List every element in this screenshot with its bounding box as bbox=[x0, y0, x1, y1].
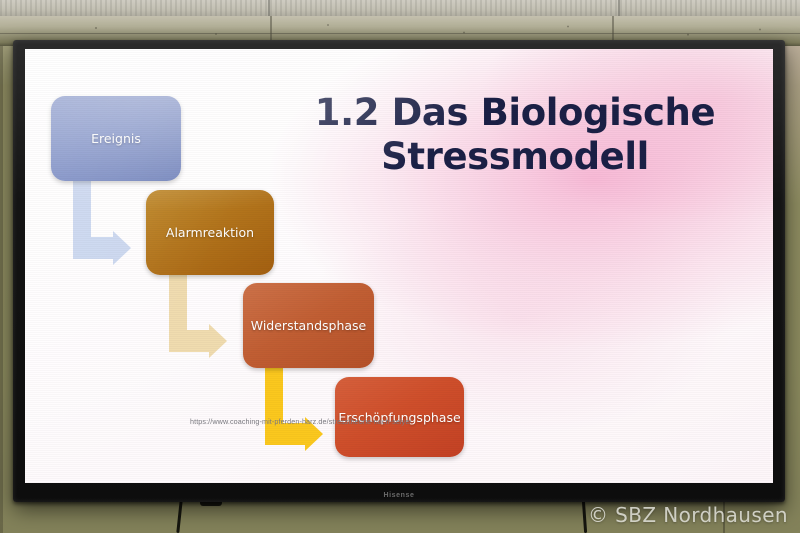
flow-box-label: Alarmreaktion bbox=[166, 225, 254, 240]
tv-brand-logo: Hisense bbox=[383, 492, 414, 499]
tv-screen: 1.2 Das Biologische Stressmodell bbox=[25, 49, 773, 483]
slide-title: 1.2 Das Biologische Stressmodell bbox=[275, 91, 755, 180]
arrow-head-icon bbox=[209, 324, 227, 358]
flow-box-label: Widerstandsphase bbox=[251, 318, 367, 333]
television-set: Hisense 1.2 Das Biologische Stressmodell bbox=[13, 40, 785, 502]
photo-watermark: © SBZ Nordhausen bbox=[588, 503, 788, 527]
arrow-horizontal-segment bbox=[169, 330, 213, 352]
flow-box-alarmreaktion: Alarmreaktion bbox=[146, 190, 274, 275]
slide-title-line-2: Stressmodell bbox=[275, 135, 755, 179]
arrow-vertical-segment bbox=[73, 175, 91, 237]
slide-source-url: https://www.coaching-mit-pferden-harz.de… bbox=[190, 417, 412, 426]
arrow-horizontal-segment bbox=[265, 423, 309, 445]
arrow-widerstandsphase-to-erschoepfungsphase bbox=[265, 361, 337, 445]
arrow-alarmreaktion-to-widerstandsphase bbox=[169, 268, 241, 352]
arrow-head-icon bbox=[113, 231, 131, 265]
flow-box-label: Ereignis bbox=[91, 131, 141, 146]
arrow-ereignis-to-alarmreaktion bbox=[73, 175, 145, 259]
flow-box-ereignis: Ereignis bbox=[51, 96, 181, 181]
arrow-vertical-segment bbox=[265, 361, 283, 423]
arrow-horizontal-segment bbox=[73, 237, 117, 259]
slide-title-line-1: 1.2 Das Biologische bbox=[275, 91, 755, 135]
wall-panel-seam bbox=[0, 46, 3, 533]
photo-scene: Hisense 1.2 Das Biologische Stressmodell bbox=[0, 0, 800, 533]
arrow-vertical-segment bbox=[169, 268, 187, 330]
soffit-edge-line bbox=[0, 33, 800, 34]
flow-box-widerstandsphase: Widerstandsphase bbox=[243, 283, 374, 368]
